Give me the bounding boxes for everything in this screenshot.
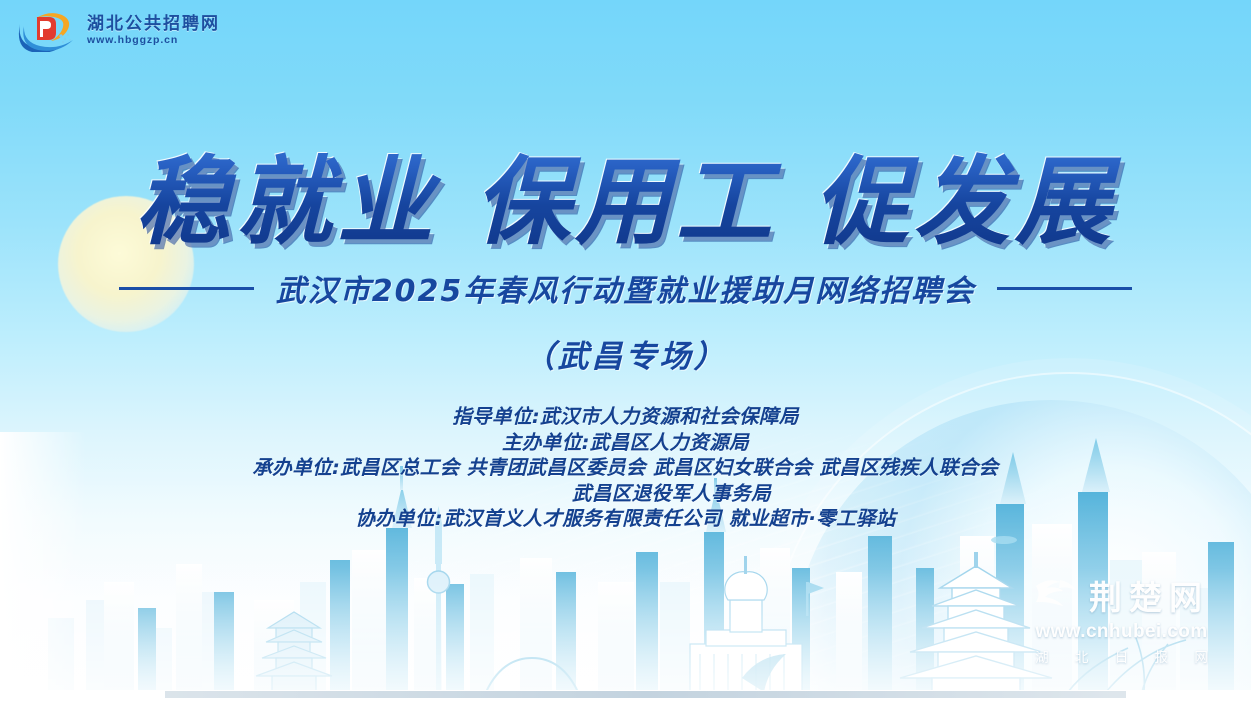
organizer-list: 指导单位:武汉市人力资源和社会保障局 主办单位:武昌区人力资源局 承办单位:武昌… <box>0 404 1251 532</box>
recruitment-poster: 湖北公共招聘网 www.hbggzp.cn 稳就业保用工促发展 武汉市2025年… <box>0 0 1251 702</box>
organizer-line: 指导单位:武汉市人力资源和社会保障局 <box>0 404 1251 430</box>
watermark-subtitle: 湖 北 日 报 网 <box>1014 646 1229 666</box>
cnhubei-bird-icon <box>1034 576 1080 615</box>
organizer-line: 武昌区退役军人事务局 <box>0 481 1251 507</box>
headline-part-1: 稳就业 <box>135 146 438 258</box>
floating-object <box>991 536 1017 544</box>
rule-left <box>119 287 254 290</box>
rule-right <box>997 287 1132 290</box>
organizer-line: 承办单位:武昌区总工会 共青团武昌区委员会 武昌区妇女联合会 武昌区残疾人联合会 <box>0 455 1251 481</box>
watermark-url: www.cnhubei.com <box>1014 621 1229 643</box>
page-title: 稳就业保用工促发展 <box>0 124 1251 263</box>
headline-part-2: 保用工 <box>474 146 777 258</box>
headline-part-3: 促发展 <box>813 146 1116 258</box>
site-logo[interactable]: 湖北公共招聘网 www.hbggzp.cn <box>16 8 220 52</box>
hbggzp-swoosh-logo-icon <box>16 8 78 52</box>
organizer-line: 协办单位:武汉首义人才服务有限责任公司 就业超市·零工驿站 <box>0 506 1251 532</box>
cnhubei-watermark: 荆楚网 www.cnhubei.com 湖 北 日 报 网 <box>1014 571 1229 666</box>
event-subtitle: 武汉市2025年春风行动暨就业援助月网络招聘会 <box>276 266 976 310</box>
logo-site-name: 湖北公共招聘网 <box>87 15 220 32</box>
watermark-brand: 荆楚网 <box>1089 571 1209 619</box>
organizer-line: 主办单位:武昌区人力资源局 <box>0 430 1251 456</box>
logo-site-url: www.hbggzp.cn <box>87 35 220 46</box>
subtitle-row: 武汉市2025年春风行动暨就业援助月网络招聘会 <box>0 266 1251 310</box>
event-venue: （武昌专场） <box>0 331 1251 376</box>
bottom-strip <box>0 690 1251 702</box>
